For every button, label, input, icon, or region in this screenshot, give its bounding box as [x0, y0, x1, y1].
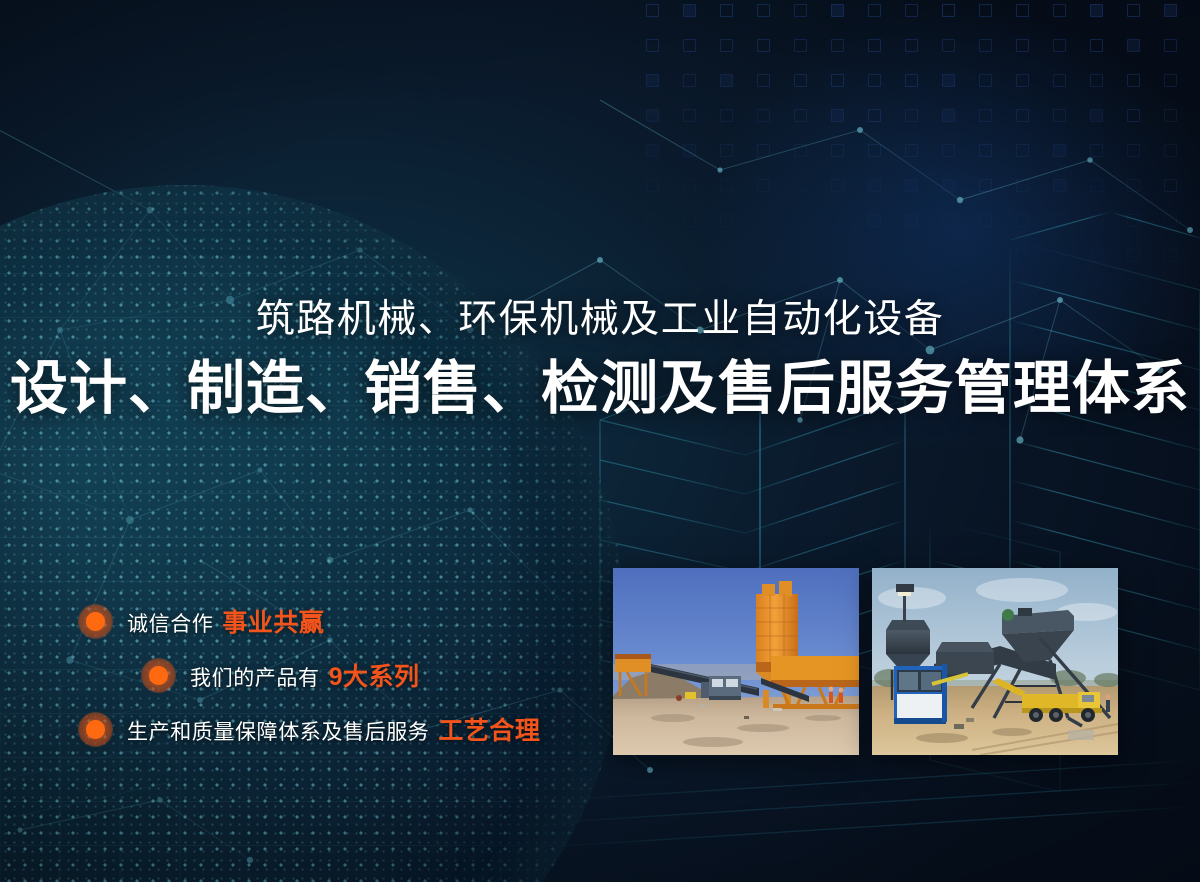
feature-bullet-list: 诚信合作事业共赢 我们的产品有9大系列 生产和质量保障体系及售后服务工艺合理 — [0, 594, 620, 756]
bullet-text-2: 我们的产品有9大系列 — [190, 657, 420, 693]
bullet-plain-2: 我们的产品有 — [190, 667, 320, 690]
bullet-item-3: 生产和质量保障体系及售后服务工艺合理 — [0, 702, 620, 756]
bullet-dot-icon — [79, 713, 112, 746]
bullet-item-2: 我们的产品有9大系列 — [0, 648, 620, 702]
bullet-item-1: 诚信合作事业共赢 — [0, 594, 620, 648]
promotional-banner: 筑路机械、环保机械及工业自动化设备 设计、制造、销售、检测及售后服务管理体系 诚… — [0, 0, 1200, 882]
bullet-highlight-1: 事业共赢 — [222, 609, 324, 637]
bullet-text-3: 生产和质量保障体系及售后服务工艺合理 — [127, 711, 540, 747]
bullet-plain-3: 生产和质量保障体系及售后服务 — [127, 721, 429, 744]
bullet-plain-1: 诚信合作 — [127, 613, 213, 636]
concrete-batching-plant-photo — [613, 568, 859, 755]
headline-block: 筑路机械、环保机械及工业自动化设备 设计、制造、销售、检测及售后服务管理体系 — [0, 298, 1200, 421]
bullet-highlight-3: 工艺合理 — [438, 717, 540, 745]
bullet-highlight-2: 9大系列 — [329, 663, 420, 691]
headline-line-2: 设计、制造、销售、检测及售后服务管理体系 — [0, 357, 1200, 421]
mobile-mixing-plant-photo — [872, 568, 1118, 755]
bullet-dot-icon — [142, 659, 175, 692]
bullet-dot-icon — [79, 605, 112, 638]
headline-line-1: 筑路机械、环保机械及工业自动化设备 — [0, 298, 1200, 343]
bullet-text-1: 诚信合作事业共赢 — [127, 603, 324, 639]
